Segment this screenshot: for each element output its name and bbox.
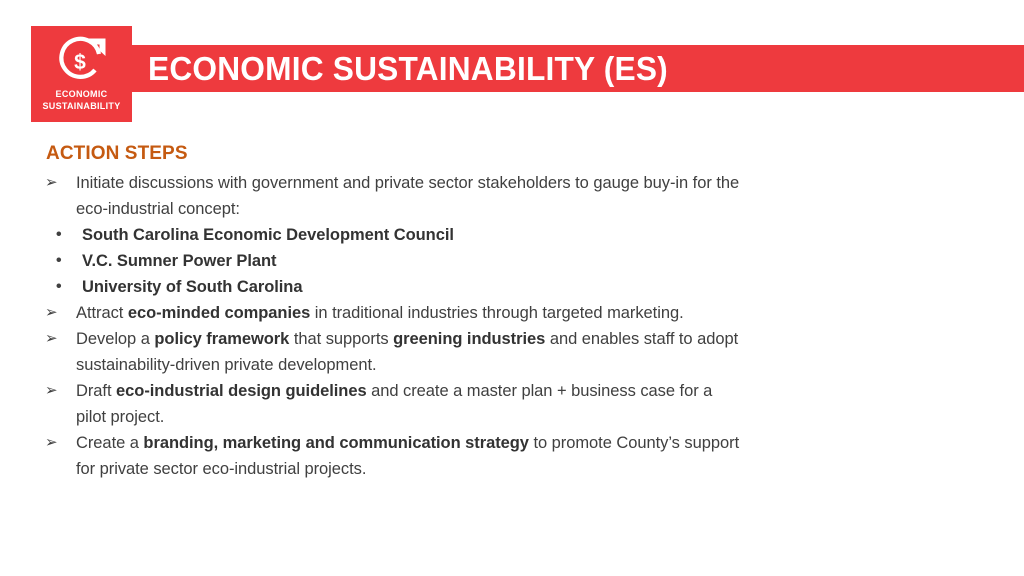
plain-text: Draft xyxy=(76,382,116,400)
stakeholder-list-item: •University of South Carolina xyxy=(44,274,744,300)
action-step-text: Create a branding, marketing and communi… xyxy=(76,434,739,478)
section-heading: ACTION STEPS xyxy=(46,143,188,165)
logo-caption-line-2: SUSTAINABILITY xyxy=(31,100,132,112)
emphasis-text: policy framework xyxy=(154,330,289,348)
dot-bullet-icon: • xyxy=(56,248,62,274)
arrow-bullet-icon: ➢ xyxy=(45,170,65,196)
svg-text:$: $ xyxy=(74,51,86,74)
action-step-item: ➢Attract eco-minded companies in traditi… xyxy=(44,300,744,326)
plain-text: Attract xyxy=(76,304,128,322)
stakeholder-label: University of South Carolina xyxy=(82,278,302,296)
stakeholder-sub-list: •South Carolina Economic Development Cou… xyxy=(44,222,744,300)
plain-text: Create a xyxy=(76,434,143,452)
circular-arrow-dollar-icon: $ xyxy=(55,34,109,86)
action-step-item: ➢Develop a policy framework that support… xyxy=(44,326,744,378)
plain-text: Initiate discussions with government and… xyxy=(76,174,739,218)
arrow-bullet-icon: ➢ xyxy=(45,378,65,404)
plain-text: in traditional industries through target… xyxy=(310,304,683,322)
arrow-bullet-icon: ➢ xyxy=(45,326,65,352)
action-step-text: Draft eco-industrial design guidelines a… xyxy=(76,382,712,426)
slide-header: ECONOMIC SUSTAINABILITY (ES) $ ECONOMIC … xyxy=(0,0,1024,130)
stakeholder-list-item: •South Carolina Economic Development Cou… xyxy=(44,222,744,248)
slide-content: ACTION STEPS ➢Initiate discussions with … xyxy=(0,130,1024,576)
dot-bullet-icon: • xyxy=(56,274,62,300)
stakeholder-label: V.C. Sumner Power Plant xyxy=(82,252,276,270)
action-step-text: Initiate discussions with government and… xyxy=(76,174,739,218)
logo-caption-line-1: ECONOMIC xyxy=(31,88,132,100)
action-step-item: ➢Draft eco-industrial design guidelines … xyxy=(44,378,744,430)
emphasis-text: eco-industrial design guidelines xyxy=(116,382,367,400)
arrow-bullet-icon: ➢ xyxy=(45,300,65,326)
plain-text: that supports xyxy=(289,330,393,348)
logo-caption: ECONOMIC SUSTAINABILITY xyxy=(31,88,132,112)
emphasis-text: branding, marketing and communication st… xyxy=(143,434,529,452)
dot-bullet-icon: • xyxy=(56,222,62,248)
action-step-item: ➢Initiate discussions with government an… xyxy=(44,170,744,222)
emphasis-text: eco-minded companies xyxy=(128,304,310,322)
emphasis-text: greening industries xyxy=(393,330,545,348)
plain-text: Develop a xyxy=(76,330,154,348)
stakeholder-label: South Carolina Economic Development Coun… xyxy=(82,226,454,244)
stakeholder-list-item: •V.C. Sumner Power Plant xyxy=(44,248,744,274)
page-title: ECONOMIC SUSTAINABILITY (ES) xyxy=(148,45,820,92)
action-step-text: Attract eco-minded companies in traditio… xyxy=(76,304,684,322)
action-steps-list: ➢Initiate discussions with government an… xyxy=(44,170,744,482)
arrow-bullet-icon: ➢ xyxy=(45,430,65,456)
economic-sustainability-logo: $ ECONOMIC SUSTAINABILITY xyxy=(31,26,132,122)
action-step-item: ➢Create a branding, marketing and commun… xyxy=(44,430,744,482)
action-step-text: Develop a policy framework that supports… xyxy=(76,330,738,374)
